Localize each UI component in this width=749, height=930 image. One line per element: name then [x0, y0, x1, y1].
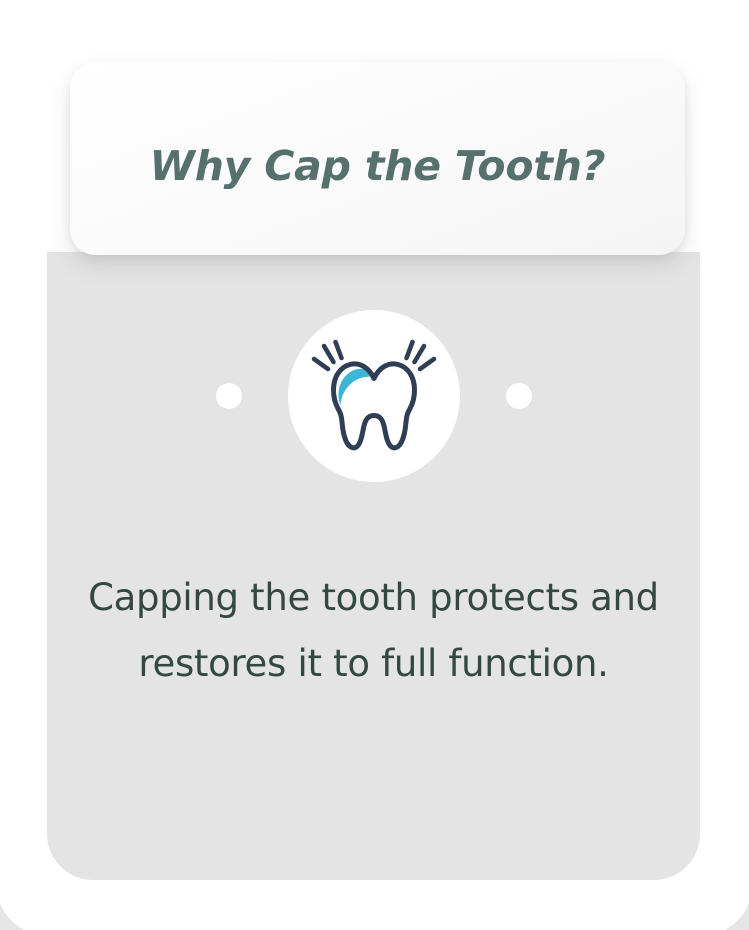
- page-title: Why Cap the Tooth?: [150, 142, 606, 190]
- header-card: Why Cap the Tooth?: [70, 62, 685, 255]
- right-dot-decoration: [506, 383, 532, 409]
- icon-row: [47, 310, 700, 482]
- infographic-card-stage: Why Cap the Tooth?: [0, 0, 749, 930]
- left-dot-decoration: [216, 383, 242, 409]
- sparkling-tooth-icon: [308, 336, 440, 456]
- body-description: Capping the tooth protects and restores …: [47, 565, 700, 697]
- tooth-icon-badge: [288, 310, 460, 482]
